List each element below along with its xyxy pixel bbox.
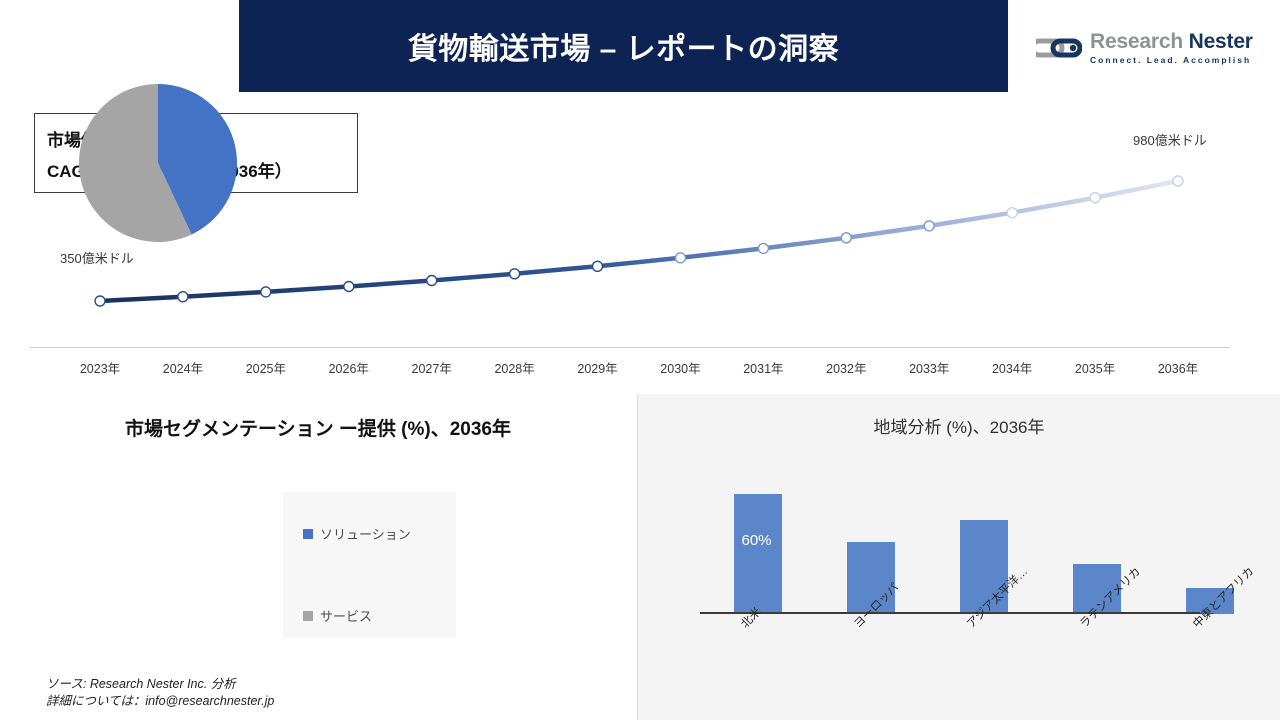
legend-item-solution: ソリューション — [303, 524, 411, 543]
line-chart-x-label: 2024年 — [138, 358, 228, 377]
legend-swatch-solution — [303, 529, 313, 539]
line-chart-marker — [510, 269, 520, 279]
line-chart-x-label: 2025年 — [221, 358, 311, 377]
line-chart-x-label: 2034年 — [967, 358, 1057, 377]
logo-tagline: Connect. Lead. Accomplish — [1090, 56, 1253, 65]
line-chart-marker — [261, 287, 271, 297]
line-chart-x-axis-labels: 2023年2024年2025年2026年2027年2028年2029年2030年… — [30, 358, 1230, 380]
line-chart-marker — [758, 243, 768, 253]
line-chart-marker — [178, 292, 188, 302]
header-banner: 貨物輸送市場 – レポートの洞察 — [239, 0, 1008, 92]
region-bar-value-label: 60% — [742, 532, 772, 549]
line-chart-marker — [841, 233, 851, 243]
line-chart-marker — [1007, 208, 1017, 218]
line-chart-x-label: 2023年 — [55, 358, 145, 377]
legend-swatch-service — [303, 611, 313, 621]
legend-item-service: サービス — [303, 606, 372, 625]
contact-line: 詳細については：info@researchnester.jp — [46, 693, 274, 710]
line-chart-x-label: 2035年 — [1050, 358, 1140, 377]
pie-slice-label: 57% — [126, 557, 164, 579]
line-chart-marker — [1173, 176, 1183, 186]
logo-word-nester: Nester — [1189, 30, 1253, 53]
line-chart-marker — [344, 282, 354, 292]
line-chart-x-label: 2028年 — [470, 358, 560, 377]
logo-word-research: Research — [1090, 30, 1183, 53]
segmentation-legend: ソリューション サービス — [283, 492, 456, 638]
region-bar: 60% — [734, 494, 782, 614]
page-title: 貨物輸送市場 – レポートの洞察 — [408, 24, 839, 68]
line-chart-marker — [593, 261, 603, 271]
line-chart-x-label: 2027年 — [387, 358, 477, 377]
line-chart-x-label: 2029年 — [553, 358, 643, 377]
line-chart-axis — [30, 347, 1230, 348]
line-chart-x-label: 2036年 — [1133, 358, 1223, 377]
line-chart-x-label: 2030年 — [635, 358, 725, 377]
line-chart-marker — [1090, 193, 1100, 203]
line-chart-marker — [427, 276, 437, 286]
source-footer: ソース: Research Nester Inc. 分析 詳細については：inf… — [46, 676, 274, 710]
region-analysis-panel: 地域分析 (%)、2036年 60% — [637, 394, 1280, 720]
line-chart-marker — [95, 296, 105, 306]
line-chart-x-label: 2031年 — [718, 358, 808, 377]
line-chart-marker — [924, 221, 934, 231]
legend-label-solution: ソリューション — [320, 524, 411, 543]
region-chart-baseline — [700, 612, 1200, 614]
region-bar-chart: 60% — [701, 454, 1266, 614]
source-line: ソース: Research Nester Inc. 分析 — [46, 676, 274, 693]
legend-label-service: サービス — [320, 606, 372, 625]
line-chart-x-label: 2026年 — [304, 358, 394, 377]
logo-wordmark: Research Nester — [1090, 31, 1253, 52]
line-chart-marker — [676, 253, 686, 263]
segmentation-title: 市場セグメンテーション ー提供 (%)、2036年 — [0, 414, 636, 441]
interlocking-links-icon — [1036, 31, 1082, 65]
line-chart-x-label: 2033年 — [884, 358, 974, 377]
region-analysis-title: 地域分析 (%)、2036年 — [638, 413, 1280, 438]
line-chart-x-label: 2032年 — [801, 358, 891, 377]
research-nester-logo: Research Nester Connect. Lead. Accomplis… — [1036, 22, 1258, 74]
segmentation-pie-chart — [78, 83, 238, 243]
